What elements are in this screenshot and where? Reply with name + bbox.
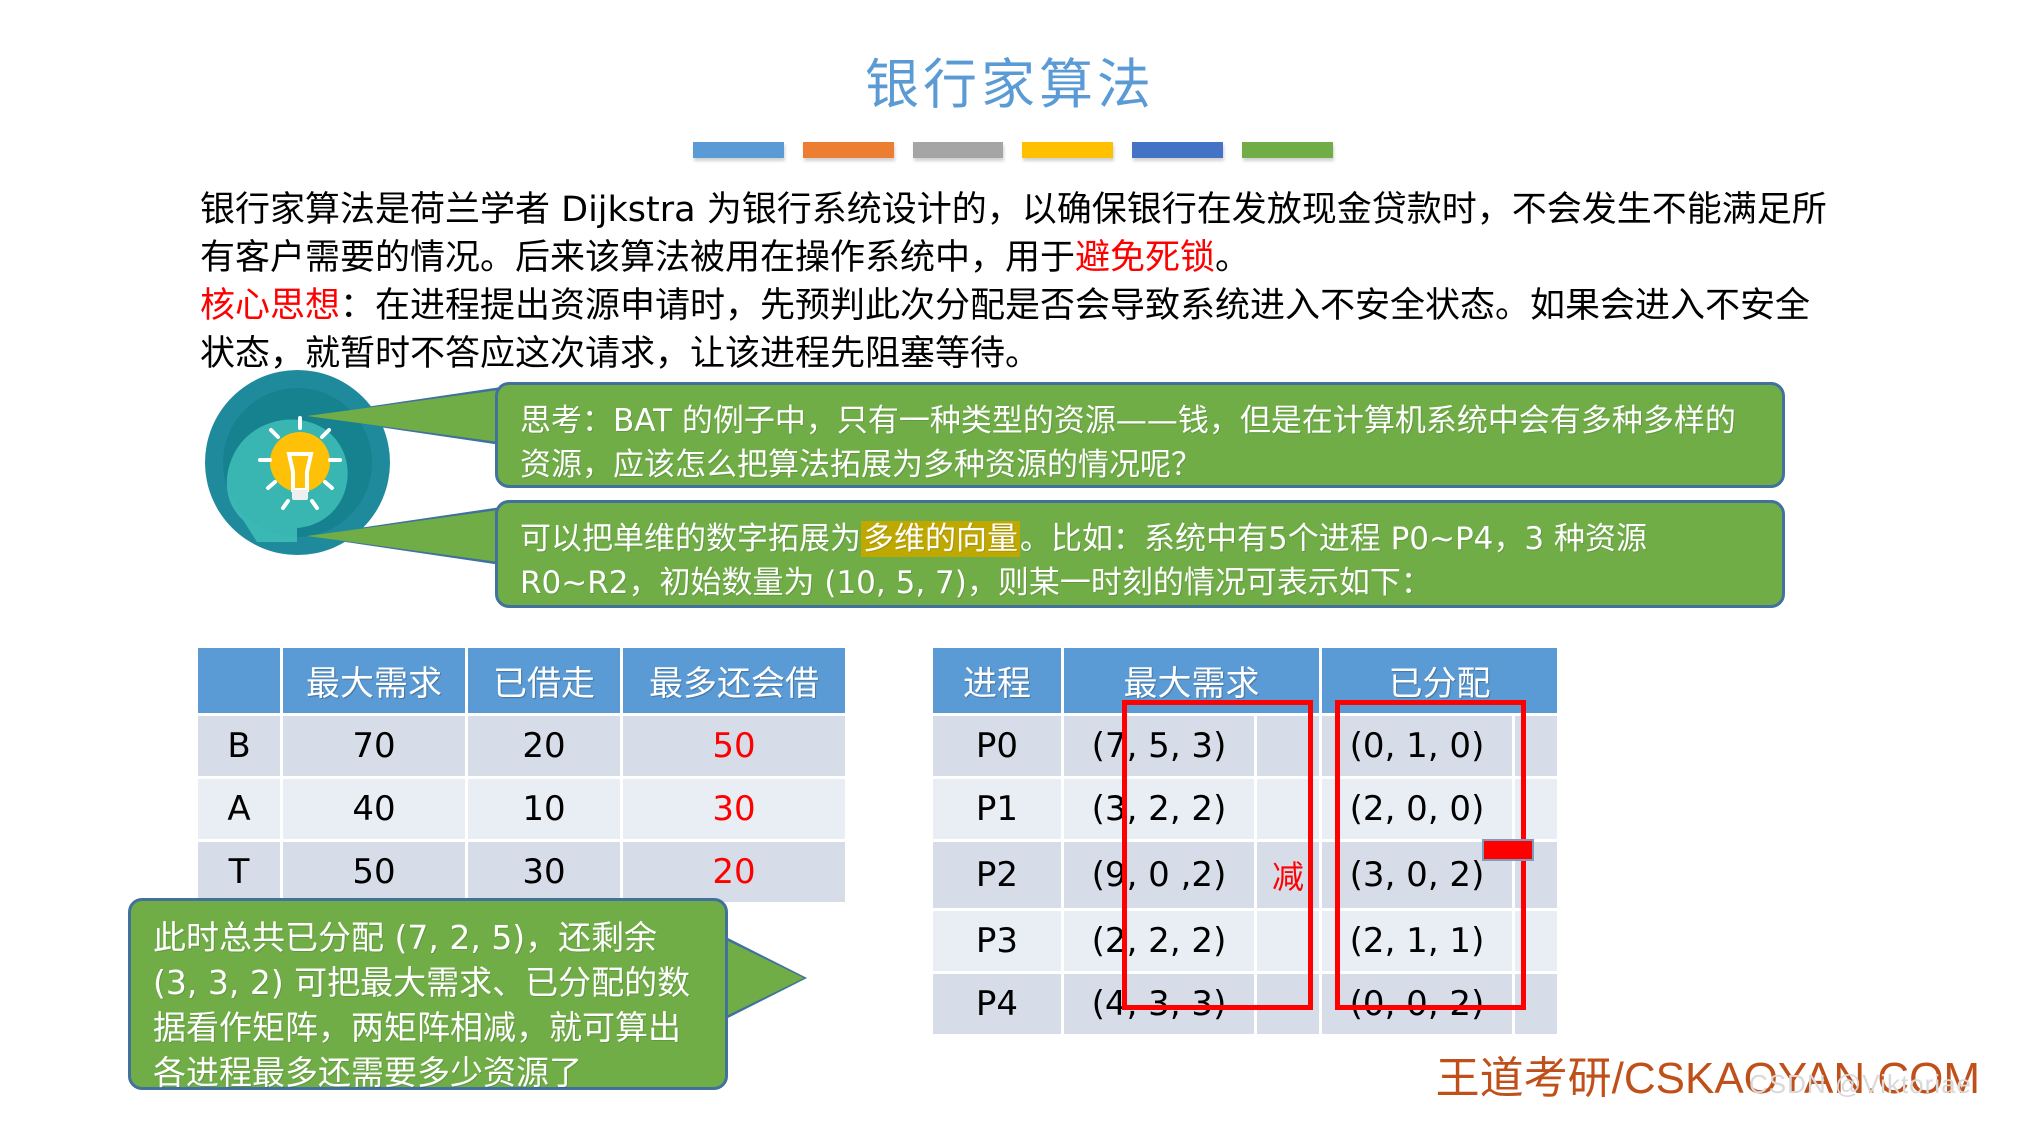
paragraph-definition-highlight: 避免死锁: [1075, 238, 1215, 278]
paragraph-core-idea-label: 核心思想: [200, 286, 340, 326]
accent-bar-strip: [693, 142, 1333, 158]
table-row: P1 (3, 2, 2) (2, 0, 0): [933, 779, 1557, 839]
slide-root: 银行家算法 银行家算法是荷兰学者 Dijkstra 为银行系统设计的，以确保银行…: [0, 0, 2020, 1128]
table-bat-loans: 最大需求 已借走 最多还会借 B 70 20 50 A 40 10 30 T 5…: [195, 645, 848, 905]
paragraph-definition-text: 银行家算法是荷兰学者 Dijkstra 为银行系统设计的，以确保银行在发放现金贷…: [200, 190, 1827, 278]
table-row: P0 (7, 5, 3) (0, 1, 0): [933, 716, 1557, 776]
cell-trailing: [1515, 779, 1557, 839]
table-row: P3 (2, 2, 2) (2, 1, 1): [933, 911, 1557, 971]
table-row: P4 (4, 3, 3) (0, 0, 2): [933, 974, 1557, 1034]
paragraph-definition: 银行家算法是荷兰学者 Dijkstra 为银行系统设计的，以确保银行在发放现金贷…: [200, 186, 1840, 282]
paragraph-definition-period: 。: [1215, 238, 1250, 278]
table-row-header: 最大需求 已借走 最多还会借: [198, 648, 845, 713]
callout-vector: 可以把单维的数字拓展为多维的向量。比如：系统中有5个进程 P0~P4，3 种资源…: [495, 500, 1785, 608]
accent-bar-3: [913, 142, 1004, 158]
cell-taken: 30: [468, 842, 620, 902]
callout-vector-highlight: 多维的向量: [861, 521, 1020, 557]
th-right-process: 进程: [933, 648, 1061, 713]
th-right-max-demand: 最大需求: [1064, 648, 1319, 713]
callout-summary: 此时总共已分配 (7, 2, 5)，还剩余 (3, 3, 2) 可把最大需求、已…: [128, 898, 728, 1090]
cell-allocated: (0, 0, 2): [1322, 974, 1512, 1034]
cell-process: P3: [933, 911, 1061, 971]
cell-trailing: [1515, 974, 1557, 1034]
accent-bar-5: [1132, 142, 1223, 158]
paragraph-core-idea: 核心思想：在进程提出资源申请时，先预判此次分配是否会导致系统进入不安全状态。如果…: [200, 282, 1840, 378]
callout-thinking: 思考：BAT 的例子中，只有一种类型的资源——钱，但是在计算机系统中会有多种多样…: [495, 382, 1785, 488]
cell-name: B: [198, 716, 280, 776]
cell-allocated: (2, 1, 1): [1322, 911, 1512, 971]
cell-max: 40: [283, 779, 465, 839]
cell-max-demand: (7, 5, 3): [1064, 716, 1254, 776]
annotation-red-marker: [1482, 839, 1534, 861]
cell-process: P1: [933, 779, 1061, 839]
cell-allocated: (2, 0, 0): [1322, 779, 1512, 839]
cell-max-demand: (4, 3, 3): [1064, 974, 1254, 1034]
cell-max-demand: (2, 2, 2): [1064, 911, 1254, 971]
cell-remain: 30: [623, 779, 845, 839]
th-left-blank: [198, 648, 280, 713]
table-row: A 40 10 30: [198, 779, 845, 839]
cell-spacer: [1257, 779, 1319, 839]
table-row-header: 进程 最大需求 已分配: [933, 648, 1557, 713]
cell-max-demand: (3, 2, 2): [1064, 779, 1254, 839]
cell-process: P2: [933, 842, 1061, 908]
callout-1-tail: [307, 390, 499, 442]
watermark-label: CSDN @Viktoriae: [1749, 1069, 1972, 1100]
cell-name: A: [198, 779, 280, 839]
th-left-max-demand: 最大需求: [283, 648, 465, 713]
page-title: 银行家算法: [0, 40, 2020, 119]
paragraph-core-idea-text: ：在进程提出资源申请时，先预判此次分配是否会导致系统进入不安全状态。如果会进入不…: [200, 286, 1810, 374]
cell-process: P0: [933, 716, 1061, 776]
cell-max: 50: [283, 842, 465, 902]
cell-spacer: [1257, 716, 1319, 776]
table-row: P2 (9, 0 ,2) 减 (3, 0, 2): [933, 842, 1557, 908]
th-right-allocated: 已分配: [1322, 648, 1557, 713]
th-left-borrowed: 已借走: [468, 648, 620, 713]
cell-trailing: [1515, 716, 1557, 776]
th-left-max-more: 最多还会借: [623, 648, 845, 713]
cell-spacer: [1257, 974, 1319, 1034]
cell-taken: 10: [468, 779, 620, 839]
cell-name: T: [198, 842, 280, 902]
cell-spacer: [1257, 911, 1319, 971]
table-row: T 50 30 20: [198, 842, 845, 902]
cell-trailing: [1515, 911, 1557, 971]
cell-remain: 20: [623, 842, 845, 902]
cell-max: 70: [283, 716, 465, 776]
accent-bar-2: [803, 142, 894, 158]
cell-allocated: (0, 1, 0): [1322, 716, 1512, 776]
table-process-resources: 进程 最大需求 已分配 P0 (7, 5, 3) (0, 1, 0) P1 (3…: [930, 645, 1560, 1037]
cell-remain: 50: [623, 716, 845, 776]
accent-bar-1: [693, 142, 784, 158]
cell-process: P4: [933, 974, 1061, 1034]
cell-max-demand: (9, 0 ,2): [1064, 842, 1254, 908]
cell-minus-label: 减: [1257, 842, 1319, 908]
accent-bar-4: [1022, 142, 1113, 158]
cell-taken: 20: [468, 716, 620, 776]
callout-3-tail: [726, 940, 804, 1016]
callout-2-tail: [307, 510, 499, 562]
accent-bar-6: [1242, 142, 1333, 158]
callout-vector-text-a: 可以把单维的数字拓展为: [520, 521, 861, 557]
table-row: B 70 20 50: [198, 716, 845, 776]
